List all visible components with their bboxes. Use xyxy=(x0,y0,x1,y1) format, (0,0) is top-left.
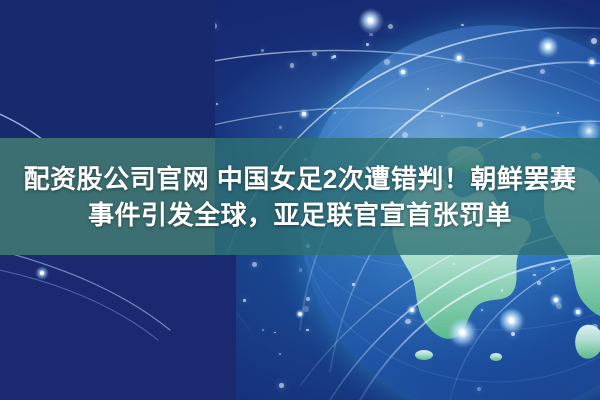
caption-line-1: 配资股公司官网 中国女足2次遭错判！朝鲜罢赛 xyxy=(24,162,577,196)
caption-text-block: 配资股公司官网 中国女足2次遭错判！朝鲜罢赛 事件引发全球，亚足联官宣首张罚单 xyxy=(0,138,600,255)
caption-line-2: 事件引发全球，亚足联官宣首张罚单 xyxy=(88,198,512,232)
banner-image: 配资股公司官网 中国女足2次遭错判！朝鲜罢赛 事件引发全球，亚足联官宣首张罚单 xyxy=(0,0,600,400)
